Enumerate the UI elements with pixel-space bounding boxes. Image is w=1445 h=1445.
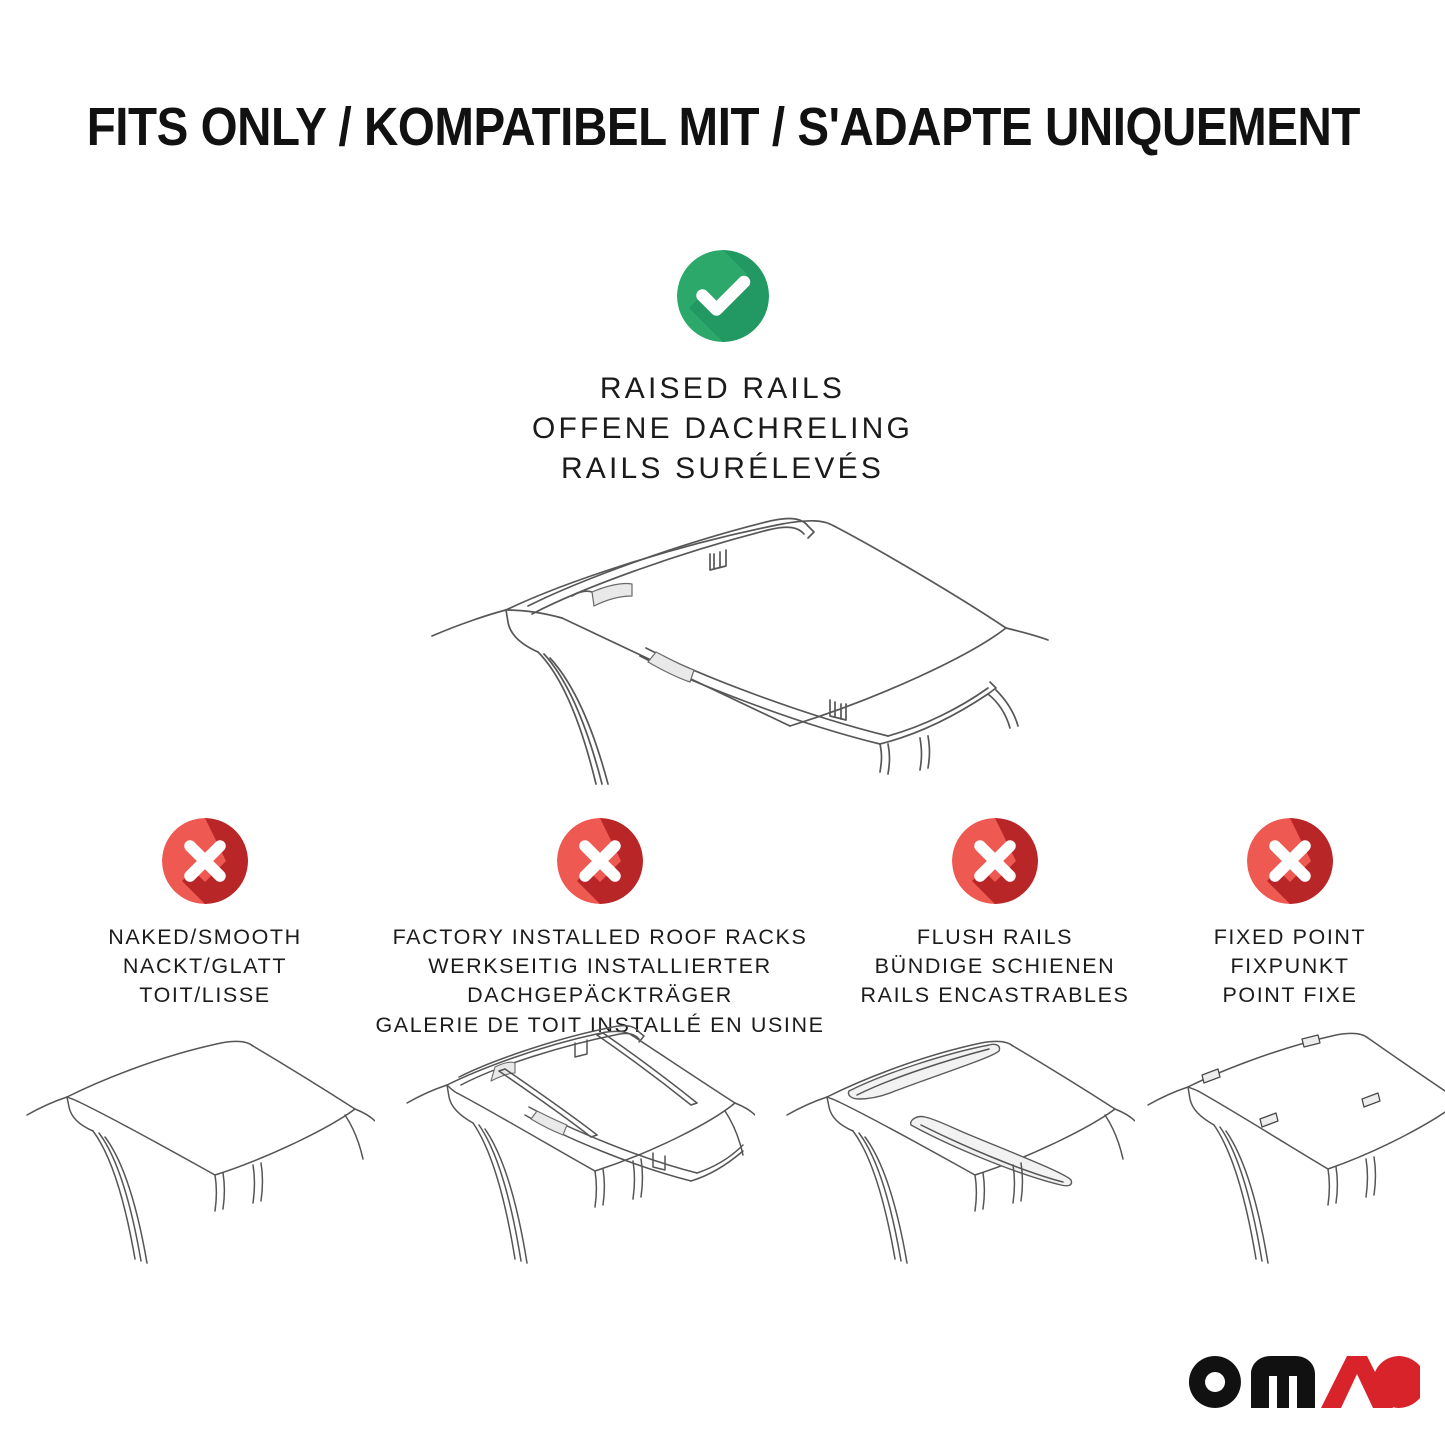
incompatible-label-de: FIXPUNKT	[1150, 952, 1430, 981]
car-roof-raised-rails-illustration	[410, 488, 1050, 788]
incompatible-label-fr: TOIT/LISSE	[45, 981, 365, 1010]
compatible-label-en: RAISED RAILS	[0, 369, 1445, 409]
incompatible-column-fixed-point: FIXED POINT FIXPUNKT POINT FIXE	[1150, 818, 1430, 1011]
incompatible-label-fr: POINT FIXE	[1150, 981, 1430, 1010]
compatible-labels: RAISED RAILS OFFENE DACHRELING RAILS SUR…	[0, 369, 1445, 489]
incompatible-label-de-2: DACHGEPÄCKTRÄGER	[360, 981, 840, 1010]
compatible-label-fr: RAILS SURÉLEVÉS	[0, 449, 1445, 489]
incompatible-column-flush-rails: FLUSH RAILS BÜNDIGE SCHIENEN RAILS ENCAS…	[845, 818, 1145, 1011]
incompatible-label-de: NACKT/GLATT	[45, 952, 365, 981]
car-roof-factory-racks-illustration	[395, 1015, 755, 1265]
incompatible-section: NAKED/SMOOTH NACKT/GLATT TOIT/LISSE FACT…	[0, 818, 1445, 1018]
car-roof-flush-rails-illustration	[775, 1015, 1135, 1265]
incompatible-label-de: BÜNDIGE SCHIENEN	[845, 952, 1145, 981]
incompatible-illustrations-row	[0, 1015, 1445, 1265]
incompatible-label-en: NAKED/SMOOTH	[45, 923, 365, 952]
car-roof-fixed-point-illustration	[1140, 1015, 1445, 1265]
omac-letter-o	[1189, 1356, 1241, 1408]
incompatible-column-naked-smooth: NAKED/SMOOTH NACKT/GLATT TOIT/LISSE	[45, 818, 365, 1011]
incompatible-label-en: FIXED POINT	[1150, 923, 1430, 952]
incompatible-label-en: FACTORY INSTALLED ROOF RACKS	[360, 923, 840, 952]
red-x-circle-icon	[1247, 818, 1333, 904]
fitment-info-graphic: FITS ONLY / KOMPATIBEL MIT / S'ADAPTE UN…	[0, 0, 1445, 1445]
incompatible-labels: FIXED POINT FIXPUNKT POINT FIXE	[1150, 923, 1430, 1011]
red-x-circle-icon	[557, 818, 643, 904]
incompatible-label-en: FLUSH RAILS	[845, 923, 1145, 952]
page-title: FITS ONLY / KOMPATIBEL MIT / S'ADAPTE UN…	[87, 96, 1359, 158]
incompatible-labels: NAKED/SMOOTH NACKT/GLATT TOIT/LISSE	[45, 923, 365, 1011]
compatible-section: RAISED RAILS OFFENE DACHRELING RAILS SUR…	[0, 250, 1445, 489]
green-check-circle-icon	[677, 250, 769, 342]
incompatible-column-factory-installed-roof-racks: FACTORY INSTALLED ROOF RACKS WERKSEITIG …	[360, 818, 840, 1040]
compatible-label-de: OFFENE DACHRELING	[0, 409, 1445, 449]
incompatible-label-fr: RAILS ENCASTRABLES	[845, 981, 1145, 1010]
incompatible-labels: FLUSH RAILS BÜNDIGE SCHIENEN RAILS ENCAS…	[845, 923, 1145, 1011]
car-roof-naked-smooth-illustration	[15, 1015, 375, 1265]
omac-logo	[1185, 1352, 1420, 1424]
incompatible-label-de-1: WERKSEITIG INSTALLIERTER	[360, 952, 840, 981]
omac-letter-m	[1251, 1356, 1315, 1408]
red-x-circle-icon	[162, 818, 248, 904]
red-x-circle-icon	[952, 818, 1038, 904]
